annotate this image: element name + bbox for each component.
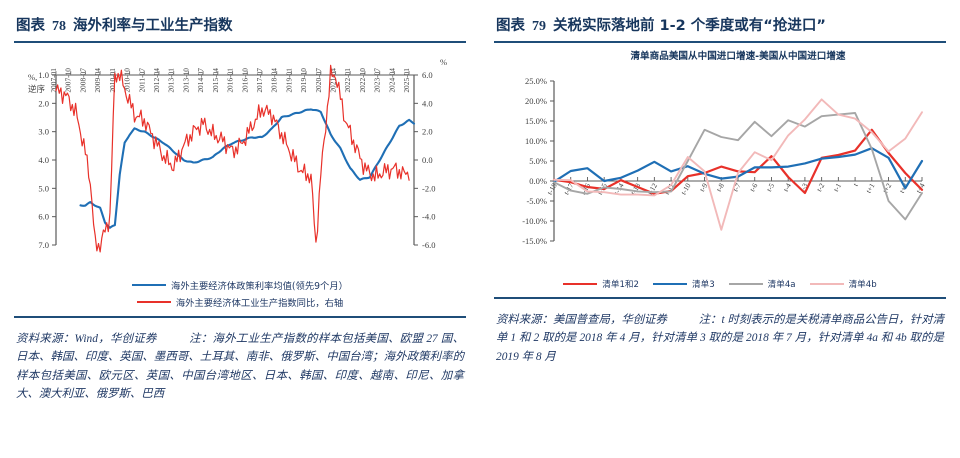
svg-text:7.0: 7.0 [38, 240, 49, 250]
legend-swatch-industrial-production [137, 301, 171, 303]
legend-label-policy-rate: 海外主要经济体政策利率均值(领先9个月） [171, 278, 348, 292]
chart-79-canvas: 清单商品美国从中国进口增速-美国从中国进口增速25.0%20.0%15.0%10… [492, 45, 948, 280]
svg-text:3.0: 3.0 [38, 127, 49, 137]
figure-78-number: 78 [52, 19, 66, 35]
svg-text:2023-07: 2023-07 [373, 68, 382, 93]
svg-text:t-2: t-2 [814, 181, 826, 193]
svg-text:-6.0: -6.0 [422, 240, 435, 250]
svg-text:-10.0%: -10.0% [522, 216, 547, 226]
svg-text:20.0%: 20.0% [525, 96, 547, 106]
figure-79-top-rule [494, 41, 946, 43]
report-page: 图表 78 海外利率与工业生产指数 %,逆序%1.02.03.04.05.06.… [0, 0, 960, 458]
legend-swatch-list-4b [810, 283, 844, 285]
svg-text:t-6: t-6 [748, 181, 760, 193]
figure-78-chart: %,逆序%1.02.03.04.05.06.07.06.04.02.00.0-2… [12, 45, 468, 280]
svg-text:0.0%: 0.0% [529, 176, 547, 186]
figure-79-chart: 清单商品美国从中国进口增速-美国从中国进口增速25.0%20.0%15.0%10… [492, 45, 948, 280]
svg-text:2019-10: 2019-10 [299, 68, 308, 93]
svg-text:2010-01: 2010-01 [108, 68, 117, 93]
figure-79-source: 资料来源：美国普查局，华创证券 [496, 314, 667, 326]
svg-text:2015-04: 2015-04 [211, 68, 220, 93]
svg-text:2.0: 2.0 [38, 99, 49, 109]
svg-text:清单商品美国从中国进口增速-美国从中国进口增速: 清单商品美国从中国进口增速-美国从中国进口增速 [630, 50, 845, 62]
svg-text:-5.0%: -5.0% [526, 196, 547, 206]
svg-text:2012-04: 2012-04 [152, 68, 161, 93]
svg-text:t-8: t-8 [714, 181, 726, 193]
figure-79-note: 资料来源：美国普查局，华创证券 注：t 时刻表示的是关税清单商品公告日，针对清单… [492, 305, 948, 366]
svg-text:2016-10: 2016-10 [240, 68, 249, 93]
svg-text:2022-10: 2022-10 [358, 68, 367, 93]
svg-text:%: % [440, 57, 447, 67]
svg-text:5.0%: 5.0% [529, 156, 547, 166]
svg-text:1.0: 1.0 [38, 70, 49, 80]
svg-text:-15.0%: -15.0% [522, 236, 547, 246]
figure-78-source: 资料来源：Wind，华创证券 [16, 333, 157, 345]
legend-label-industrial-production: 海外主要经济体工业生产指数同比，右轴 [176, 295, 343, 309]
svg-text:-4.0: -4.0 [422, 212, 435, 222]
figure-78-top-rule [14, 41, 466, 43]
svg-text:2016-01: 2016-01 [226, 68, 235, 93]
svg-text:6.0: 6.0 [38, 212, 49, 222]
legend-swatch-list-3 [653, 283, 687, 286]
svg-text:5.0: 5.0 [38, 184, 49, 194]
figure-79-panel: 图表 79 关税实际落地前 1-2 个季度或有“抢进口” 清单商品美国从中国进口… [480, 0, 960, 458]
legend-item-industrial-production: 海外主要经济体工业生产指数同比，右轴 [137, 295, 343, 309]
figure-78-note: 资料来源：Wind，华创证券 注：海外工业生产指数的样本包括美国、欧盟 27 国… [12, 324, 468, 404]
svg-text:2018-04: 2018-04 [270, 68, 279, 93]
svg-text:t+1: t+1 [864, 181, 877, 194]
svg-text:10.0%: 10.0% [525, 136, 547, 146]
figure-78-panel: 图表 78 海外利率与工业生产指数 %,逆序%1.02.03.04.05.06.… [0, 0, 480, 458]
figure-79-title-row: 图表 79 关税实际落地前 1-2 个季度或有“抢进口” [492, 0, 948, 41]
svg-text:2025-01: 2025-01 [402, 68, 411, 93]
figure-78-label: 图表 [16, 14, 45, 35]
svg-text:2024-04: 2024-04 [387, 68, 396, 93]
figure-78-title: 海外利率与工业生产指数 [73, 14, 233, 35]
legend-swatch-list-4a [729, 283, 763, 285]
svg-text:4.0: 4.0 [422, 99, 433, 109]
svg-text:25.0%: 25.0% [525, 76, 547, 86]
svg-text:2020-07: 2020-07 [314, 68, 323, 93]
figure-79-number: 79 [532, 19, 546, 35]
svg-text:2007-10: 2007-10 [64, 68, 73, 93]
svg-text:2009-04: 2009-04 [93, 68, 102, 93]
svg-text:2011-07: 2011-07 [137, 68, 146, 93]
legend-swatch-policy-rate [132, 284, 166, 287]
figure-79-title: 关税实际落地前 1-2 个季度或有“抢进口” [553, 14, 826, 35]
legend-item-policy-rate: 海外主要经济体政策利率均值(领先9个月） [132, 278, 348, 292]
svg-text:2013-10: 2013-10 [181, 68, 190, 93]
svg-text:2.0: 2.0 [422, 127, 433, 137]
svg-text:2017-07: 2017-07 [255, 68, 264, 93]
svg-text:逆序: 逆序 [28, 84, 46, 94]
svg-text:t-4: t-4 [781, 181, 793, 193]
figure-78-mid-rule [14, 316, 466, 318]
svg-text:t-1: t-1 [831, 181, 843, 193]
svg-text:t-5: t-5 [764, 181, 776, 193]
svg-text:t: t [851, 181, 860, 188]
legend-swatch-list-1and2 [563, 283, 597, 286]
svg-text:15.0%: 15.0% [525, 116, 547, 126]
svg-text:2013-01: 2013-01 [167, 68, 176, 93]
svg-text:4.0: 4.0 [38, 155, 49, 165]
svg-text:%,: %, [28, 72, 37, 82]
svg-text:0.0: 0.0 [422, 155, 433, 165]
svg-text:2010-10: 2010-10 [123, 68, 132, 93]
chart-78-legend: 海外主要经济体政策利率均值(领先9个月） 海外主要经济体工业生产指数同比，右轴 [12, 278, 468, 309]
figure-79-mid-rule [494, 297, 946, 299]
svg-text:2014-07: 2014-07 [196, 68, 205, 93]
svg-text:2019-01: 2019-01 [284, 68, 293, 93]
svg-text:2008-07: 2008-07 [78, 68, 87, 93]
svg-text:6.0: 6.0 [422, 70, 433, 80]
svg-text:-2.0: -2.0 [422, 184, 435, 194]
figure-78-title-row: 图表 78 海外利率与工业生产指数 [12, 0, 468, 41]
chart-78-canvas: %,逆序%1.02.03.04.05.06.07.06.04.02.00.0-2… [12, 45, 468, 280]
figure-79-label: 图表 [496, 14, 525, 35]
svg-text:2022-01: 2022-01 [343, 68, 352, 93]
